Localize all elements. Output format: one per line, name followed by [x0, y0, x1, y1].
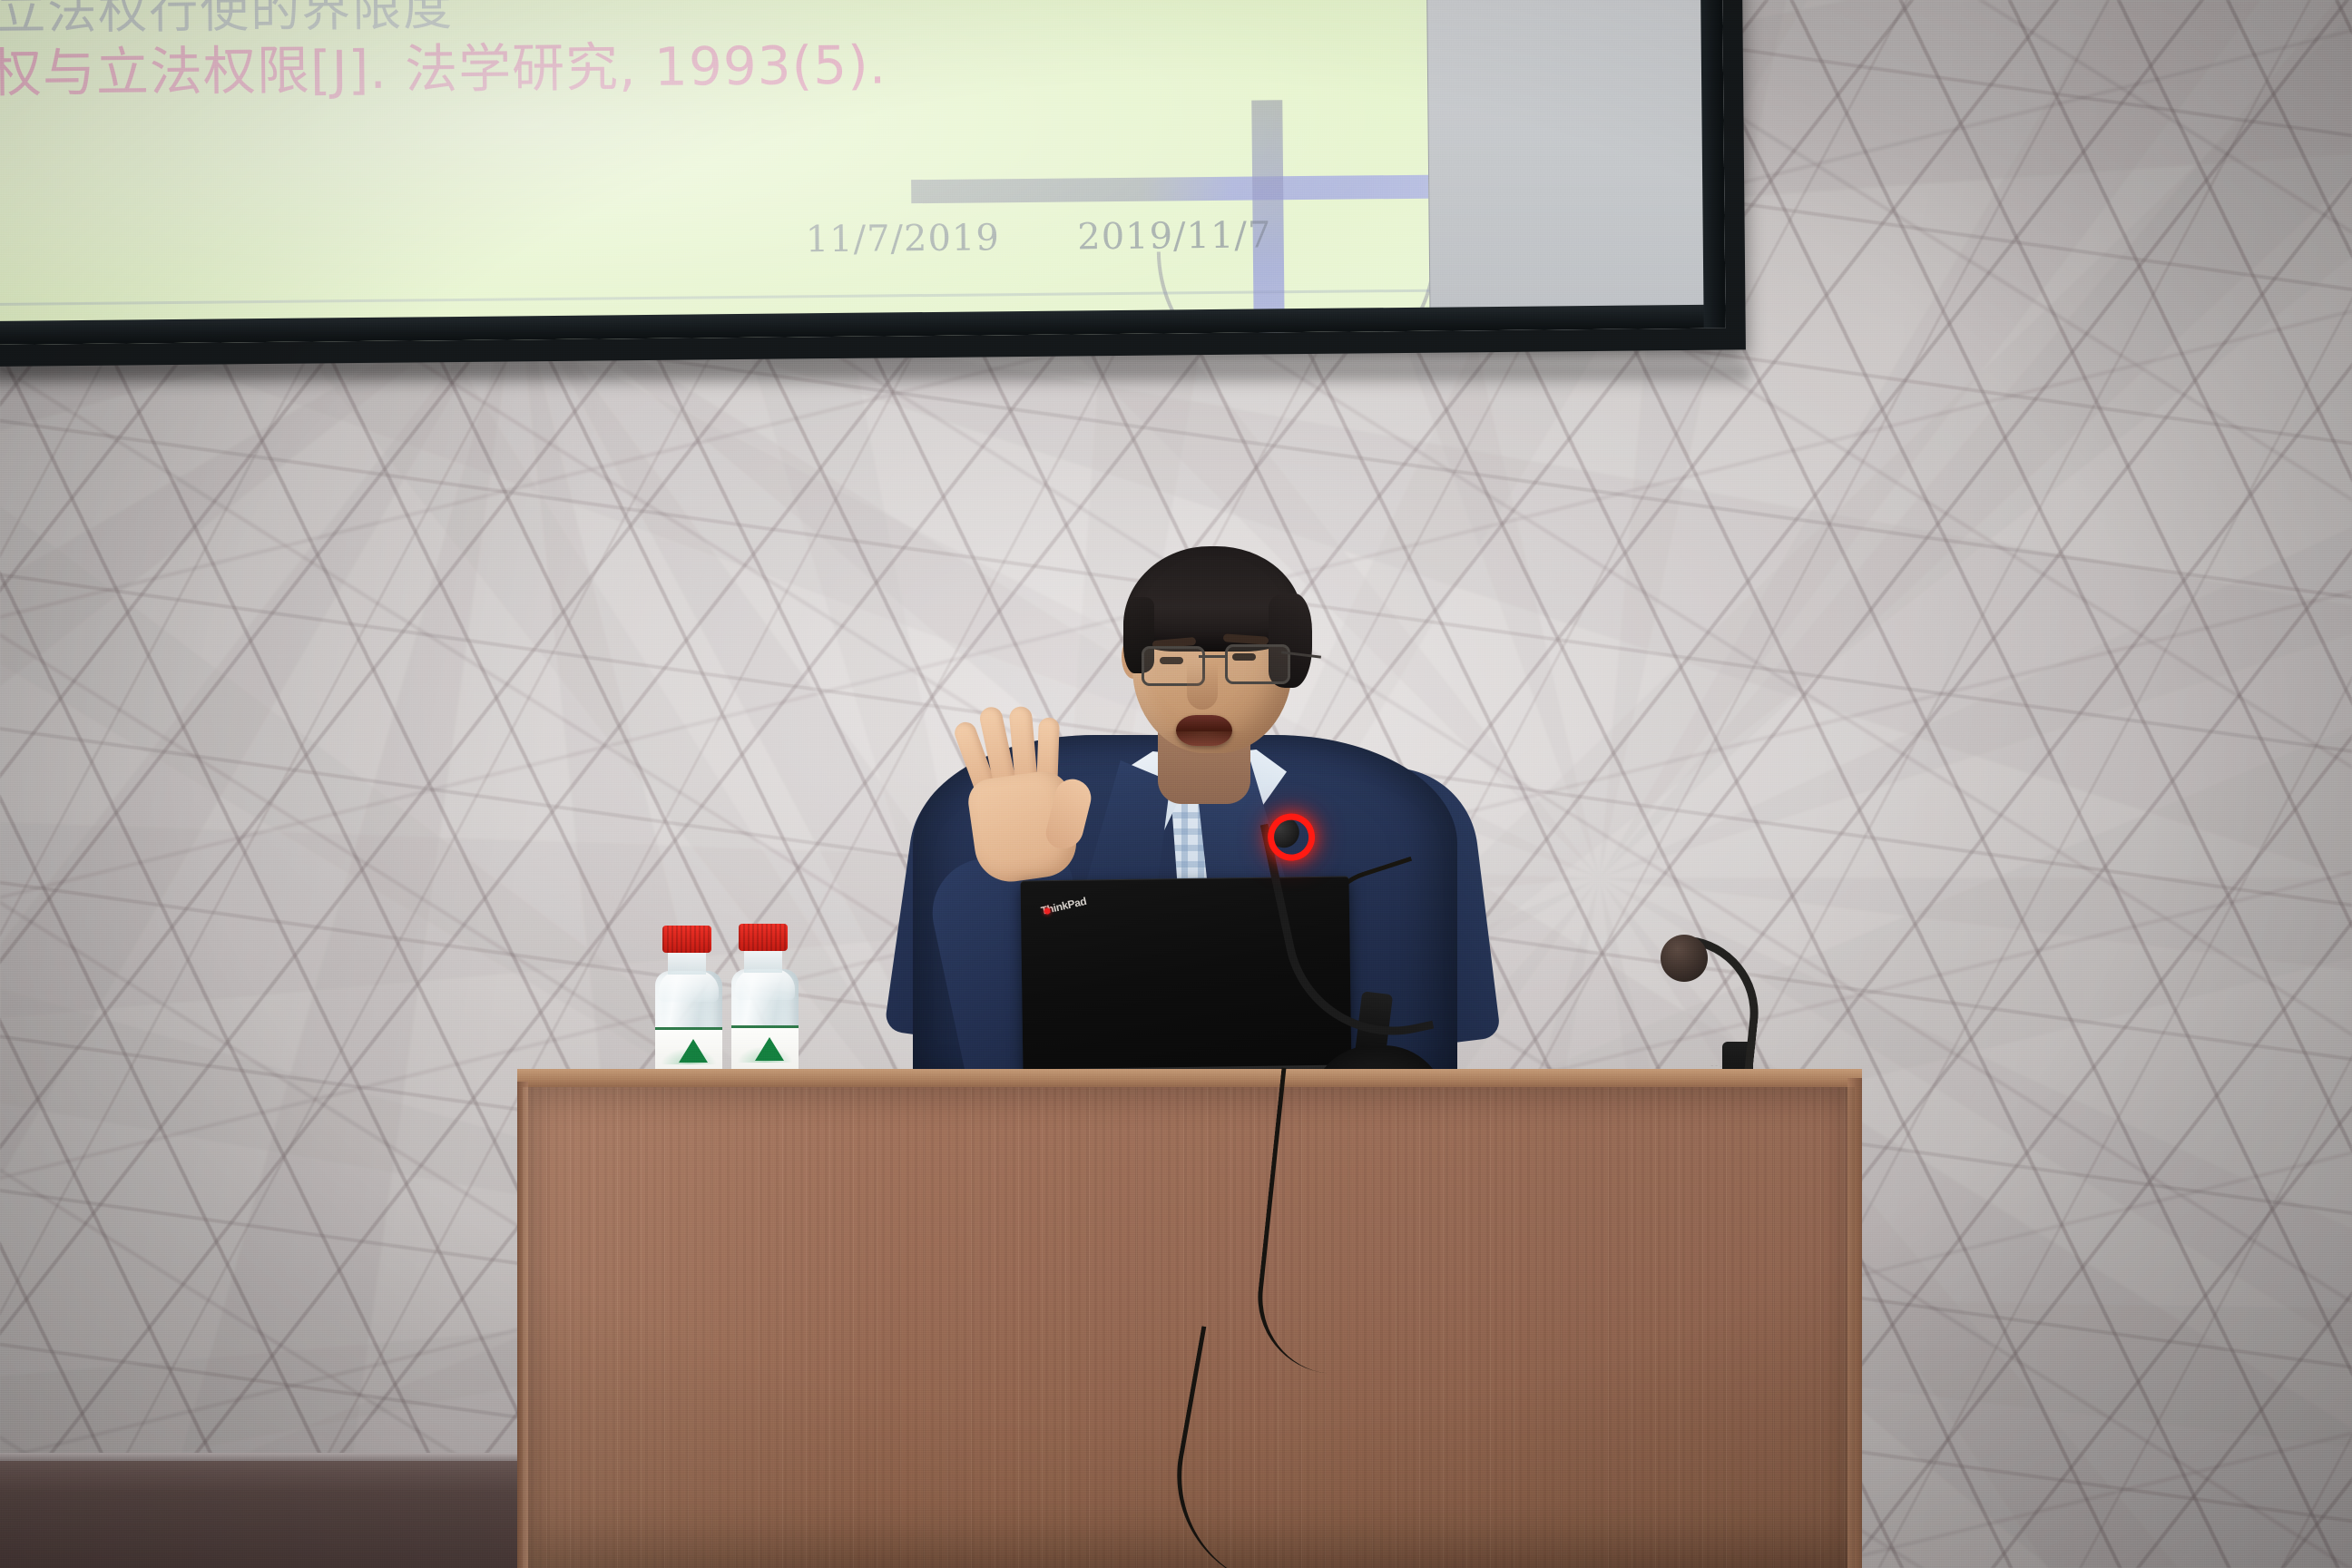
bottle-neck: [668, 951, 706, 975]
podium-right-edge: [1847, 1078, 1862, 1568]
bottle-label: [731, 1025, 799, 1075]
speaker-raised-hand: [936, 691, 1097, 895]
screen-right-frame: [1700, 0, 1726, 328]
glasses-bridge: [1199, 655, 1227, 658]
slide-date-right: 2019/11/7: [1077, 214, 1272, 258]
projection-screen: 地立法权行使的界限度 法权与立法权限[J]. 法学研究, 1993(5). 11…: [0, 0, 1746, 367]
glasses-lens-right: [1225, 644, 1290, 684]
slide-reference-line-cut-off: 地立法权行使的界限度: [0, 0, 455, 40]
bottle-cap: [739, 924, 788, 951]
microphone-led-ring-icon: [1263, 809, 1319, 866]
gooseneck-microphone-center[interactable]: [1270, 799, 1506, 1107]
screen-drop-shadow: [0, 367, 1749, 390]
slide-date-row: 11/7/2019 2019/11/7: [805, 214, 1271, 260]
presentation-slide: 地立法权行使的界限度 法权与立法权限[J]. 法学研究, 1993(5). 11…: [0, 0, 1430, 345]
podium-top-edge: [517, 1069, 1862, 1089]
floor-baseboard: [0, 1461, 544, 1568]
slide-reference-line: 法权与立法权限[J]. 法学研究, 1993(5).: [0, 34, 887, 104]
slide-offscreen-pane: [1426, 0, 1726, 331]
microphone-capsule-right: [1661, 935, 1708, 982]
slide-decoration-horizontal-bar: [911, 175, 1428, 203]
bottle-shoulder-highlight: [735, 969, 795, 1000]
green-mountain-logo-icon: [755, 1037, 784, 1061]
lecture-hall-photo: 地立法权行使的界限度 法权与立法权限[J]. 法学研究, 1993(5). 11…: [0, 0, 2352, 1568]
slide-date-left: 11/7/2019: [805, 217, 1000, 260]
speaker-nose: [1187, 662, 1218, 710]
speaker-chin-shadow: [1163, 731, 1247, 759]
podium-left-edge: [517, 1082, 528, 1568]
bottle-neck: [744, 949, 782, 973]
screen-surface: 地立法权行使的界限度 法权与立法权限[J]. 法学研究, 1993(5). 11…: [0, 0, 1726, 345]
bottle-shoulder-highlight: [659, 971, 719, 1002]
green-mountain-logo-icon: [679, 1039, 708, 1063]
bottle-cap: [662, 926, 711, 953]
baseboard-highlight: [0, 1453, 544, 1461]
microphone-gooseneck-center: [1260, 799, 1435, 1055]
